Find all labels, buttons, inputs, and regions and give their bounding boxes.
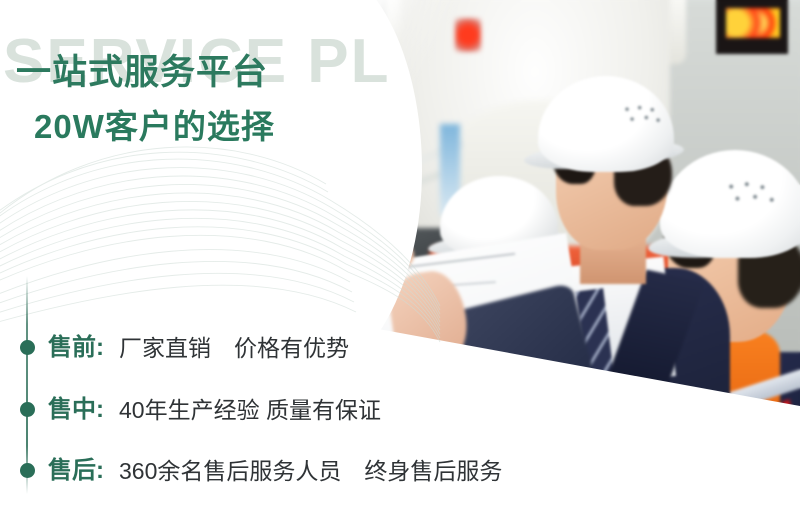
service-list: 售前: 厂家直销 价格有优势 售中: 40年生产经验 质量有保证 售后: 360… [0, 0, 800, 530]
list-item-text: 厂家直销 价格有优势 [119, 331, 349, 365]
promo-banner: SERVICE PL 一站式服务平台 20W客户的选择 售前: 厂家直销 价格有… [0, 0, 800, 530]
list-item-label: 售后: [48, 454, 104, 488]
list-item-text: 360余名售后服务人员 终身售后服务 [119, 454, 502, 488]
list-item-label: 售中: [48, 393, 104, 427]
bullet-dot-icon [20, 463, 35, 478]
list-item-label: 售前: [48, 331, 104, 365]
bullet-dot-icon [20, 340, 35, 355]
bullet-dot-icon [20, 402, 35, 417]
list-item-text: 40年生产经验 质量有保证 [119, 393, 381, 427]
